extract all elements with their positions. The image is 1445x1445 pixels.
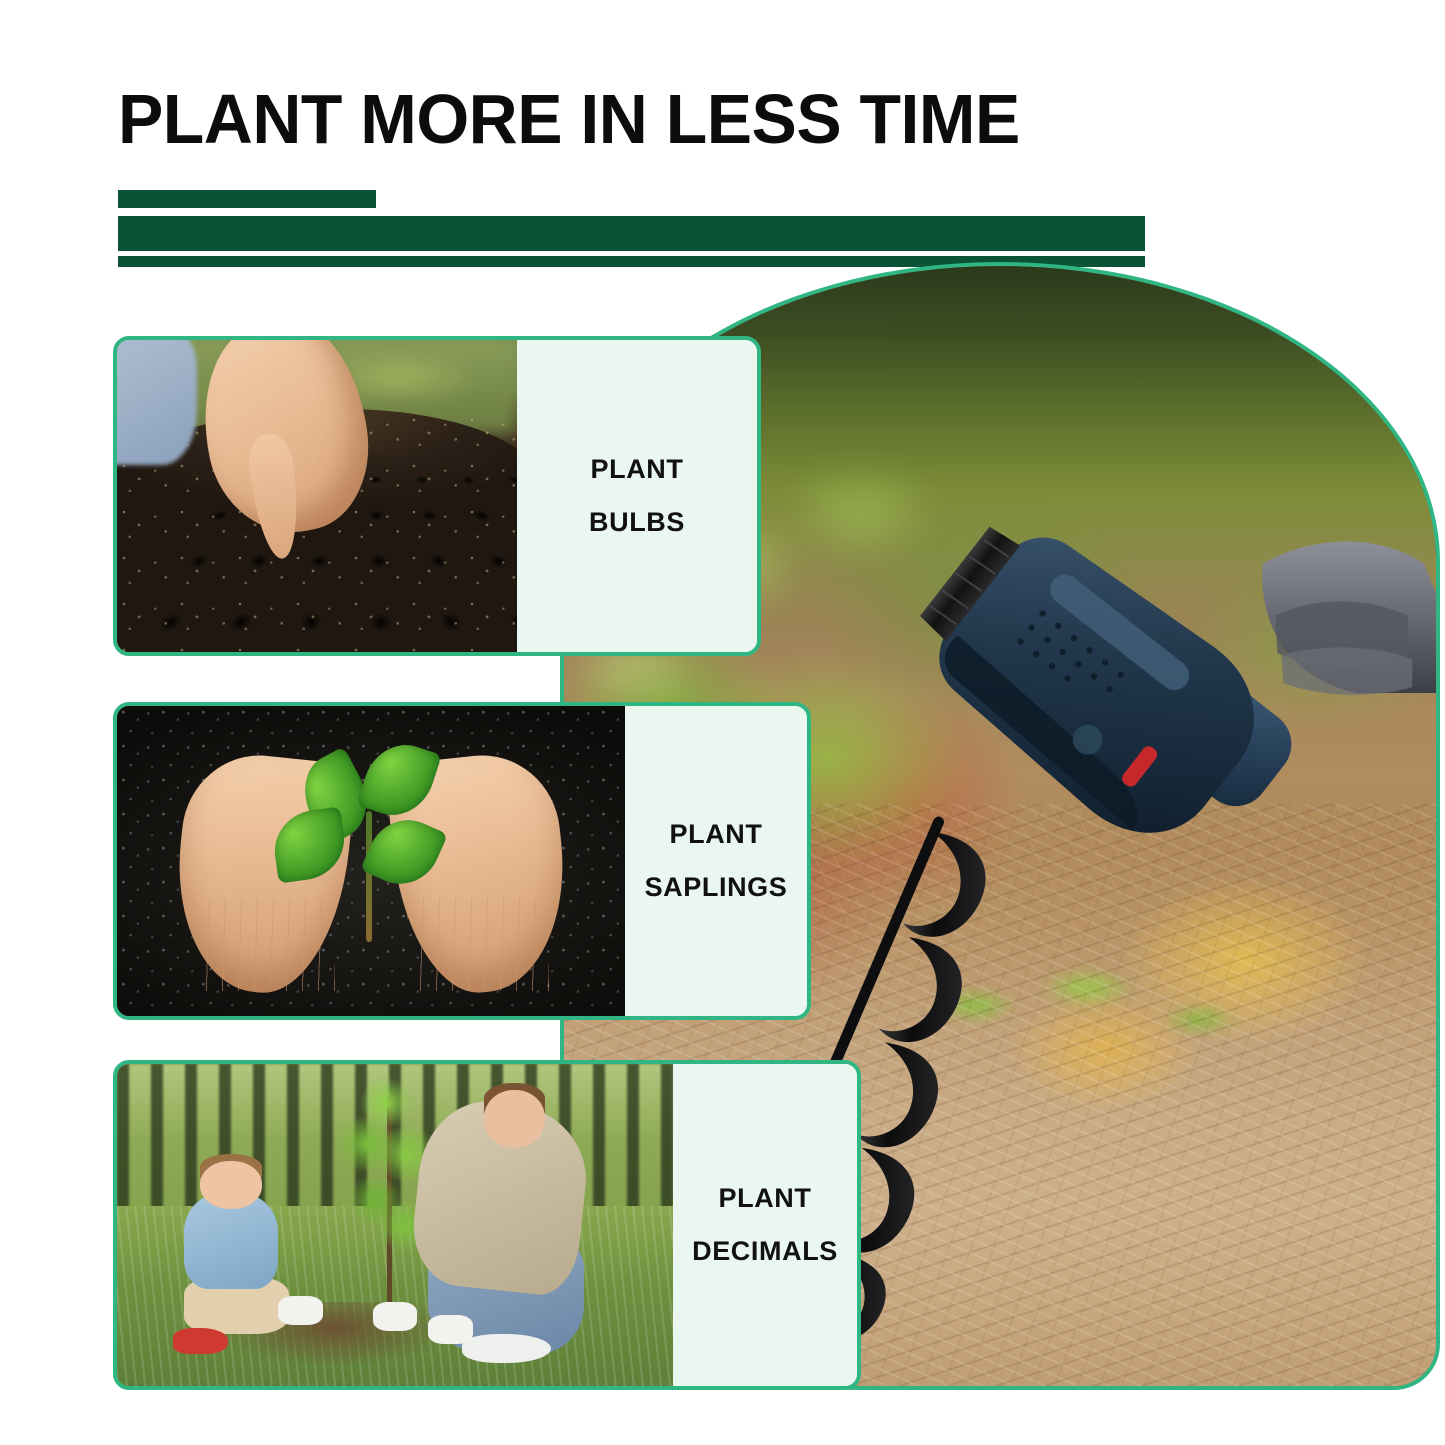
card-label-line-2: SAPLINGS xyxy=(645,872,788,903)
feature-card-plant-bulbs[interactable]: PLANT BULBS xyxy=(113,336,761,656)
right-fingers xyxy=(407,898,549,991)
product-infographic: PLANT MORE IN LESS TIME xyxy=(0,0,1445,1445)
card-label-plant-decimals: PLANT DECIMALS xyxy=(673,1064,857,1386)
denim-sleeve xyxy=(117,340,197,465)
card-label-line-1: PLANT xyxy=(591,454,684,485)
left-fingers xyxy=(193,898,335,991)
seedling-stem xyxy=(366,811,372,941)
man-head xyxy=(484,1090,545,1148)
boy-head xyxy=(200,1161,261,1209)
card-photo-plant-decimals xyxy=(117,1064,673,1386)
card-label-plant-bulbs: PLANT BULBS xyxy=(517,340,757,652)
page-title: PLANT MORE IN LESS TIME xyxy=(118,84,1020,154)
card-photo-plant-bulbs xyxy=(117,340,517,652)
work-glove xyxy=(373,1302,417,1331)
card-label-plant-saplings: PLANT SAPLINGS xyxy=(625,706,807,1016)
card-label-line-1: PLANT xyxy=(719,1183,812,1214)
boy-shoe xyxy=(173,1328,229,1354)
feature-card-plant-decimals[interactable]: PLANT DECIMALS xyxy=(113,1060,861,1390)
divider-short-bar xyxy=(118,190,376,208)
card-label-line-1: PLANT xyxy=(670,819,763,850)
card-photo-plant-saplings xyxy=(117,706,625,1016)
card-label-line-2: BULBS xyxy=(589,507,685,538)
work-glove xyxy=(278,1296,322,1325)
divider-thick-bar xyxy=(118,216,1145,251)
work-glove xyxy=(428,1315,472,1344)
feature-card-plant-saplings[interactable]: PLANT SAPLINGS xyxy=(113,702,811,1020)
card-label-line-2: DECIMALS xyxy=(692,1236,838,1267)
